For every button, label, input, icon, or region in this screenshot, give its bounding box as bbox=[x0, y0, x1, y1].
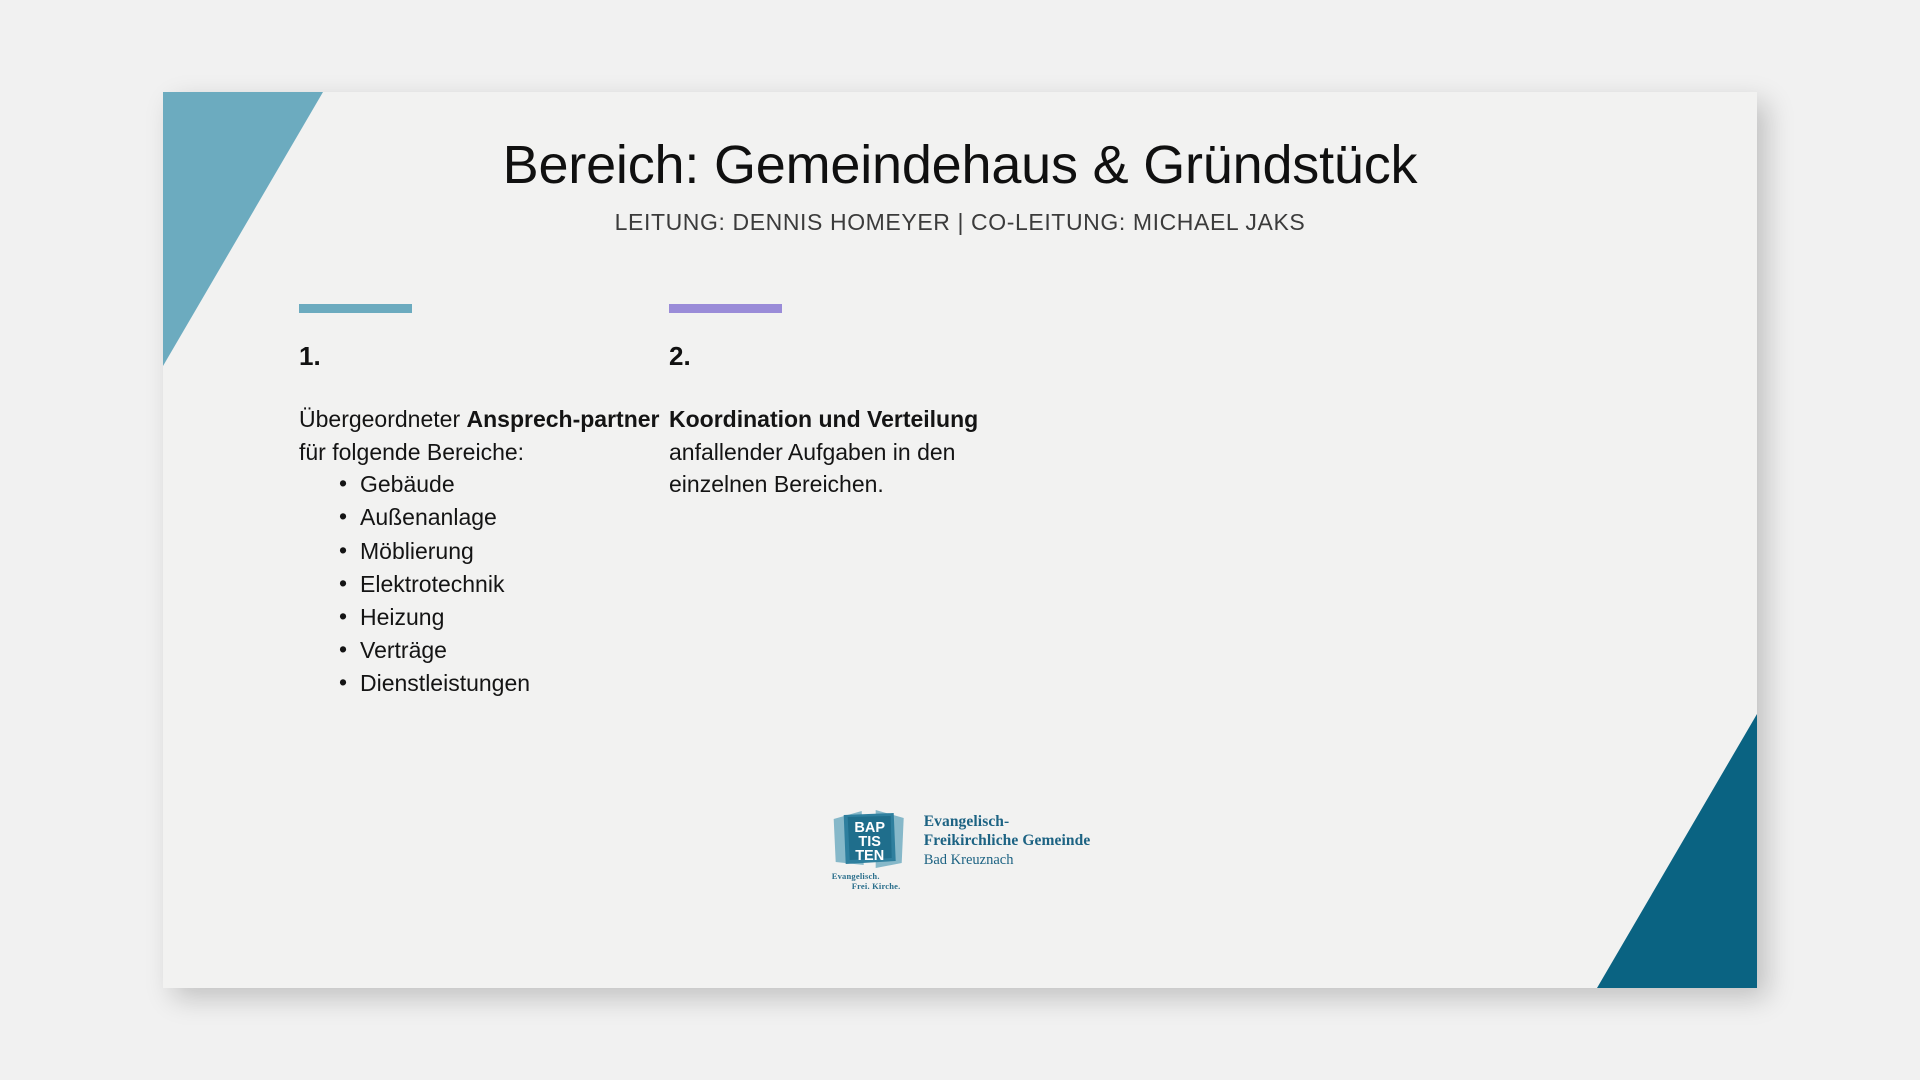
slide-backdrop: Bereich: Gemeindehaus & Gründstück LEITU… bbox=[0, 0, 1920, 1080]
logo-tagline-line-2: Frei. Kirche. bbox=[832, 881, 901, 891]
list-item: Heizung bbox=[339, 601, 669, 634]
content-column-3-empty bbox=[1039, 304, 1409, 700]
column-1-number: 1. bbox=[299, 343, 669, 369]
presentation-slide: Bereich: Gemeindehaus & Gründstück LEITU… bbox=[163, 92, 1757, 988]
slide-title: Bereich: Gemeindehaus & Gründstück bbox=[163, 136, 1757, 195]
accent-bar-column-1 bbox=[299, 304, 412, 313]
church-name-line-2: Freikirchliche Gemeinde bbox=[924, 832, 1091, 851]
accent-bar-column-2 bbox=[669, 304, 782, 313]
list-item: Verträge bbox=[339, 634, 669, 667]
church-logo: BAP TIS TEN Evangelisch. Frei. Kirche. E… bbox=[830, 805, 1091, 891]
church-name: Evangelisch- Freikirchliche Gemeinde Bad… bbox=[924, 805, 1091, 870]
church-name-line-1: Evangelisch- bbox=[924, 813, 1091, 832]
slide-header: Bereich: Gemeindehaus & Gründstück LEITU… bbox=[163, 136, 1757, 236]
content-column-2: 2. Koordination und Verteilung anfallend… bbox=[669, 304, 1039, 700]
column-2-text-tail: anfallender Aufgaben in den einzelnen Be… bbox=[669, 439, 955, 498]
list-item: Außenanlage bbox=[339, 501, 669, 534]
baptisten-logo-icon: BAP TIS TEN Evangelisch. Frei. Kirche. bbox=[830, 805, 910, 891]
list-item: Gebäude bbox=[339, 468, 669, 501]
column-2-text: Koordination und Verteilung anfallender … bbox=[669, 403, 1039, 501]
corner-decoration-bottom-right bbox=[1597, 714, 1757, 988]
content-column-1: 1. Übergeordneter Ansprech-partner für f… bbox=[299, 304, 669, 700]
column-1-text-lead: Übergeordneter bbox=[299, 406, 467, 432]
column-2-text-bold: Koordination und Verteilung bbox=[669, 406, 978, 432]
svg-text:TEN: TEN bbox=[855, 848, 884, 864]
list-item: Möblierung bbox=[339, 535, 669, 568]
logo-tagline-line-1: Evangelisch. bbox=[832, 871, 880, 881]
list-item: Elektrotechnik bbox=[339, 568, 669, 601]
column-2-number: 2. bbox=[669, 343, 1039, 369]
list-item: Dienstleistungen bbox=[339, 667, 669, 700]
column-1-bullet-list: Gebäude Außenanlage Möblierung Elektrote… bbox=[299, 468, 669, 700]
content-columns: 1. Übergeordneter Ansprech-partner für f… bbox=[299, 304, 1619, 700]
column-1-text: Übergeordneter Ansprech-partner für folg… bbox=[299, 403, 669, 468]
slide-subtitle: LEITUNG: DENNIS HOMEYER | CO-LEITUNG: MI… bbox=[163, 209, 1757, 236]
logo-tagline: Evangelisch. Frei. Kirche. bbox=[832, 871, 901, 891]
church-city: Bad Kreuznach bbox=[924, 852, 1091, 870]
column-1-text-bold: Ansprech-partner bbox=[467, 406, 660, 432]
column-1-text-tail: für folgende Bereiche: bbox=[299, 439, 524, 465]
